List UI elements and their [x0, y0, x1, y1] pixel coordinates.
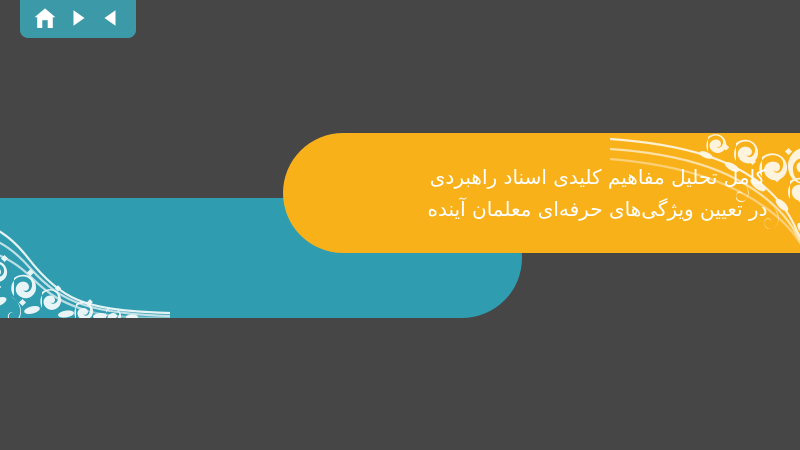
navigation-bar	[20, 0, 136, 38]
title-line-1: کامل تحلیل مفاهیم کلیدی اسناد راهبردی	[393, 161, 800, 193]
triangle-right-icon	[67, 7, 89, 29]
triangle-left-icon	[100, 7, 122, 29]
home-button[interactable]	[30, 4, 60, 32]
orange-title-banner: کامل تحلیل مفاهیم کلیدی اسناد راهبردی در…	[283, 133, 800, 253]
forward-button[interactable]	[63, 4, 93, 32]
home-icon	[33, 7, 57, 30]
teal-arabesque-ornament-icon	[0, 206, 170, 318]
back-button[interactable]	[96, 4, 126, 32]
presentation-slide: کامل تحلیل مفاهیم کلیدی اسناد راهبردی در…	[0, 0, 800, 450]
title-line-2: در تعیین ویژگی‌های حرفه‌ای معلمان آینده	[393, 193, 800, 225]
slide-title: کامل تحلیل مفاهیم کلیدی اسناد راهبردی در…	[283, 161, 800, 226]
